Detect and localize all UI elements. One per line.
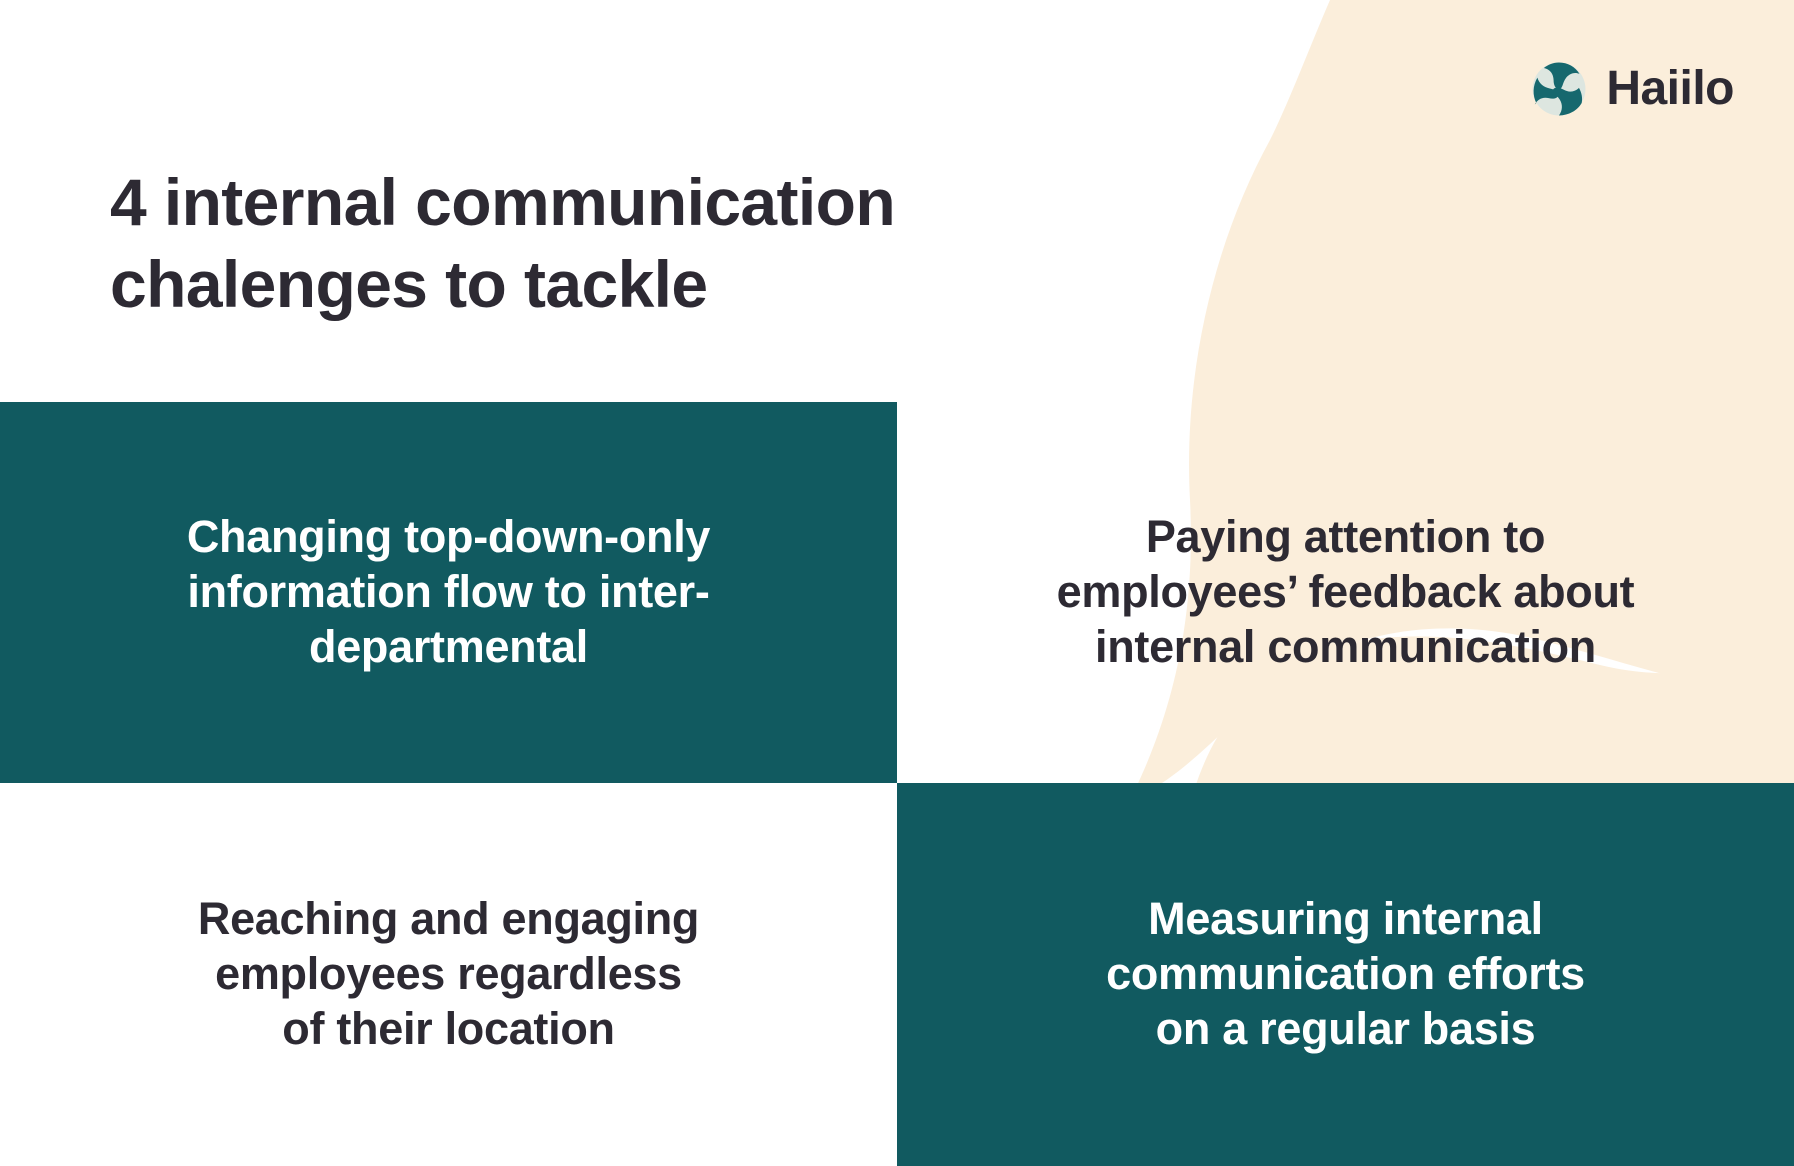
- brand-wordmark: Haiilo: [1606, 65, 1734, 113]
- challenge-card-bottom-right: Measuring internal communication efforts…: [897, 783, 1794, 1166]
- header: 4 internal communication chalenges to ta…: [0, 0, 1794, 402]
- challenge-card-top-left: Changing top-down-only information flow …: [0, 402, 897, 783]
- challenge-card-top-right: Paying attention to employees’ feedback …: [897, 402, 1794, 783]
- infographic-canvas: 4 internal communication chalenges to ta…: [0, 0, 1794, 1166]
- challenge-card-text: Reaching and engaging employees regardle…: [198, 892, 699, 1057]
- haiilo-triskelion-icon: [1532, 62, 1586, 116]
- brand-logo: Haiilo: [1532, 62, 1734, 116]
- challenge-card-text: Paying attention to employees’ feedback …: [1057, 510, 1635, 675]
- page-title: 4 internal communication chalenges to ta…: [110, 162, 1130, 326]
- challenge-card-text: Measuring internal communication efforts…: [1106, 892, 1585, 1057]
- challenge-grid: Changing top-down-only information flow …: [0, 402, 1794, 1166]
- challenge-card-bottom-left: Reaching and engaging employees regardle…: [0, 783, 897, 1166]
- challenge-card-text: Changing top-down-only information flow …: [187, 510, 710, 675]
